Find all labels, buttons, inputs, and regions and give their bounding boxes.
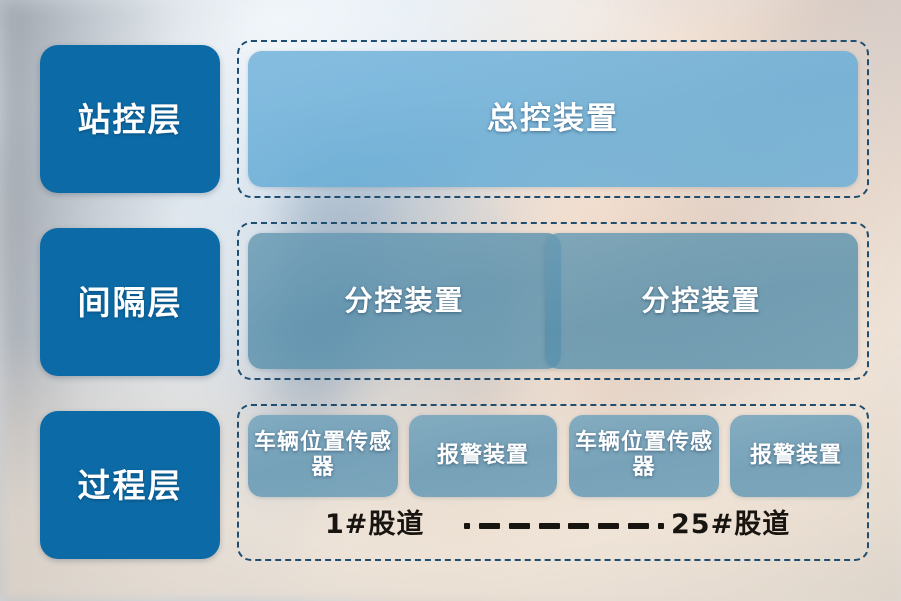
device-master-control[interactable]: 总控装置: [248, 51, 858, 187]
device-vehicle-position-sensor-1-label: 车辆位置传感器: [248, 431, 398, 480]
device-sub-control-1[interactable]: 分控装置: [248, 233, 561, 369]
device-sub-control-2[interactable]: 分控装置: [545, 233, 858, 369]
layer-zone-station-control: 总控装置: [237, 40, 869, 198]
layer-zone-bay: 分控装置 分控装置: [237, 222, 869, 380]
device-vehicle-position-sensor-1[interactable]: 车辆位置传感器: [248, 415, 398, 497]
device-vehicle-position-sensor-2-label: 车辆位置传感器: [569, 431, 719, 480]
device-sub-control-1-label: 分控装置: [344, 285, 464, 316]
layer-chip-process: 过程层: [40, 411, 220, 559]
device-alarm-device-2[interactable]: 报警装置: [730, 415, 862, 497]
device-alarm-device-1-label: 报警装置: [437, 444, 529, 469]
layer-chip-bay-label: 间隔层: [78, 286, 183, 319]
layer-chip-bay: 间隔层: [40, 228, 220, 376]
track-label-first: 1#股道: [325, 511, 424, 538]
device-alarm-device-1[interactable]: 报警装置: [409, 415, 557, 497]
diagram-canvas: 站控层 总控装置 间隔层 分控装置 分控装置 过程层 车辆位置传感器: [0, 0, 901, 601]
layer-chip-station-control-label: 站控层: [78, 103, 183, 136]
device-vehicle-position-sensor-2[interactable]: 车辆位置传感器: [569, 415, 719, 497]
layer-chip-station-control: 站控层: [40, 45, 220, 193]
device-master-control-label: 总控装置: [487, 102, 619, 137]
track-label-last: 25#股道: [671, 511, 790, 538]
device-alarm-device-2-label: 报警装置: [750, 444, 842, 469]
layer-chip-process-label: 过程层: [78, 469, 183, 502]
device-sub-control-2-label: 分控装置: [641, 285, 761, 316]
track-range-connector: [464, 522, 664, 529]
layer-zone-process: 车辆位置传感器 报警装置 车辆位置传感器 报警装置 1#股道 25#股道: [237, 404, 869, 561]
